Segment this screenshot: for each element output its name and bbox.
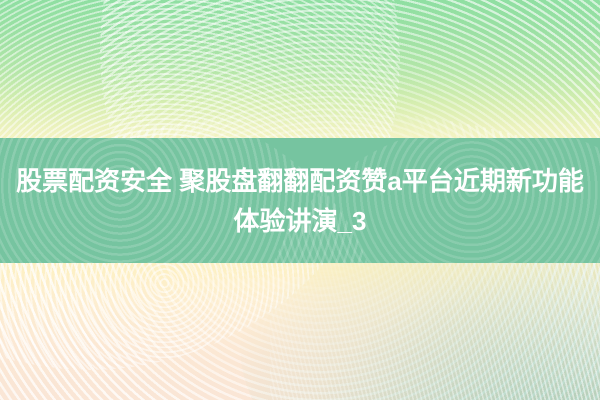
banner-image: 股票配资安全 聚股盘翻翻配资赞a平台近期新功能 体验讲演_3 [0,0,600,400]
banner-title-line-1: 股票配资安全 聚股盘翻翻配资赞a平台近期新功能 [16,161,584,201]
title-band: 股票配资安全 聚股盘翻翻配资赞a平台近期新功能 体验讲演_3 [0,138,600,263]
banner-title-line-2: 体验讲演_3 [234,201,367,241]
